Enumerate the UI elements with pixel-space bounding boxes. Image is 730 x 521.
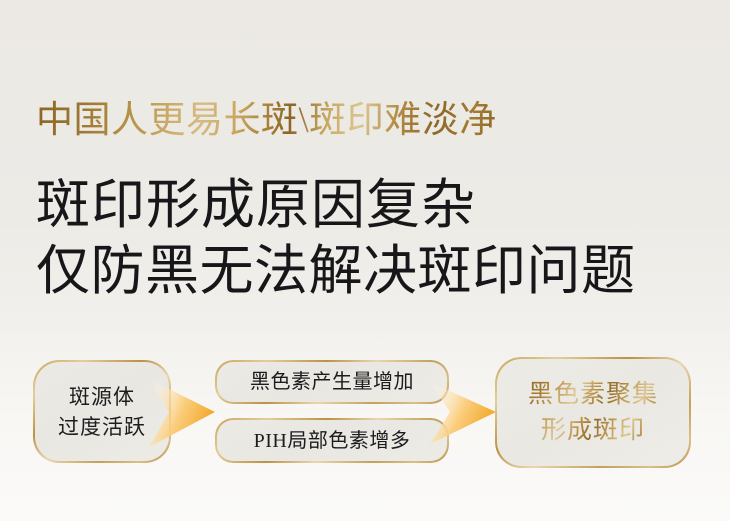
flow-node-melanin-text: 黑色素产生量增加 (250, 370, 414, 394)
slide-canvas: 中国人更易长斑\斑印难淡净 斑印形成原因复杂 仅防黑无法解决斑印问题 斑源体 过… (0, 0, 730, 521)
flow-diagram: 斑源体 过度活跃 黑色素产生量增加 PIH局部色素增多 (0, 350, 730, 480)
flow-node-source-line-2: 过度活跃 (58, 415, 146, 439)
flow-node-result: 黑色素聚集 形成斑印 (495, 357, 691, 468)
headline-line-1: 斑印形成原因复杂 (36, 172, 636, 238)
flow-node-source-text: 斑源体 过度活跃 (58, 382, 146, 442)
flow-node-result-text: 黑色素聚集 形成斑印 (528, 377, 658, 449)
flow-node-source: 斑源体 过度活跃 (33, 360, 171, 463)
flow-node-result-line-1: 黑色素聚集 (528, 381, 658, 408)
flow-node-melanin: 黑色素产生量增加 (215, 360, 449, 404)
flow-node-pih: PIH局部色素增多 (215, 418, 449, 463)
main-headline: 斑印形成原因复杂 仅防黑无法解决斑印问题 (36, 172, 636, 304)
headline-line-2: 仅防黑无法解决斑印问题 (36, 238, 636, 304)
eyebrow-headline: 中国人更易长斑\斑印难淡净 (36, 98, 497, 144)
flow-node-source-line-1: 斑源体 (69, 385, 135, 409)
flow-node-pih-text: PIH局部色素增多 (254, 429, 411, 453)
flow-node-result-line-2: 形成斑印 (541, 417, 645, 444)
